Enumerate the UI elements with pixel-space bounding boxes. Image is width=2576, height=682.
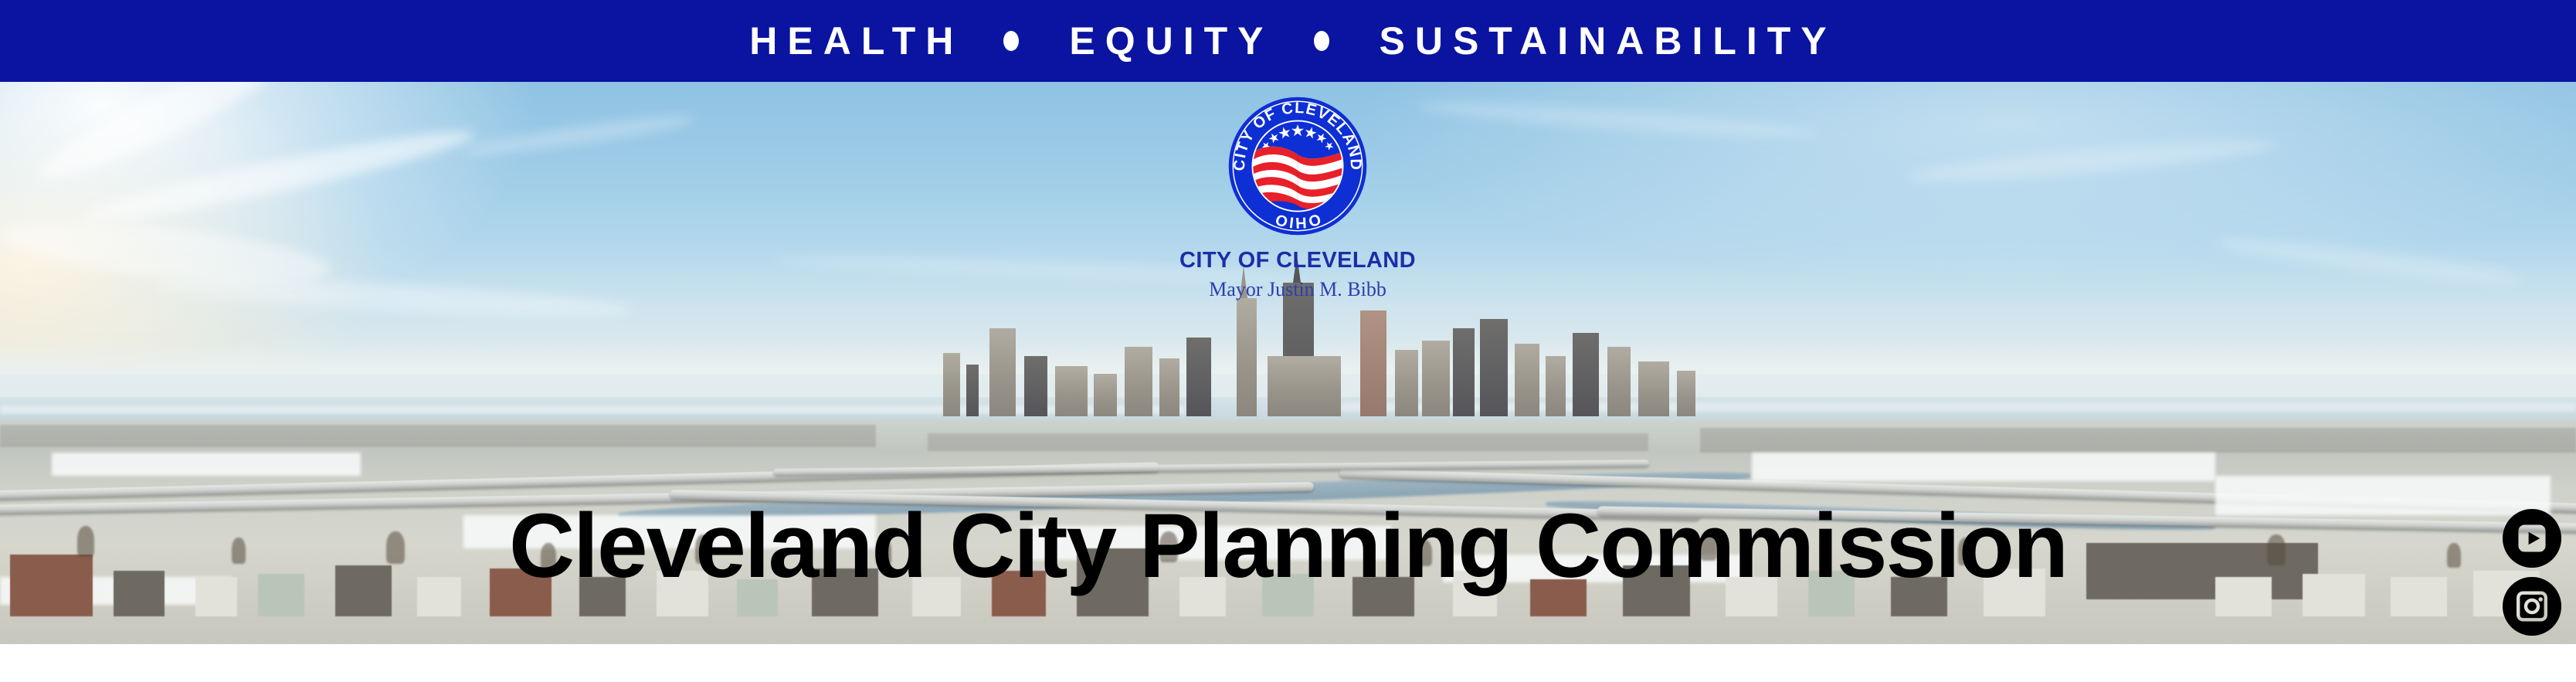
skyline-tower (1638, 361, 1669, 416)
skyline-tower (1546, 356, 1566, 417)
bottom-white-strip (0, 644, 2576, 682)
skyline-tower (1268, 356, 1341, 417)
skyline-tower (1395, 350, 1418, 416)
city-branding-block: CITY OF CLEVELAND OHIO (1143, 94, 1452, 300)
skyline-tower (1422, 341, 1450, 416)
city-of-cleveland-seal: CITY OF CLEVELAND OHIO (1226, 94, 1369, 238)
skyline-tower (1159, 358, 1179, 416)
social-links-rail (2502, 508, 2562, 644)
page-root: HEALTH EQUITY SUSTAINABILITY (0, 0, 2576, 682)
skyline-tower (1125, 347, 1152, 416)
snow-field (1752, 453, 2215, 480)
skyline-tower (1515, 344, 1539, 416)
skyline-tower (1677, 371, 1695, 416)
midground-buildings (1700, 428, 2576, 453)
youtube-icon[interactable] (2502, 508, 2562, 568)
skyline-tower (1453, 328, 1475, 416)
skyline-tower (966, 365, 979, 416)
skyline-tower (1480, 319, 1508, 416)
slogan-word-equity: EQUITY (1059, 22, 1273, 60)
skyline-tower (1573, 333, 1599, 416)
slogan-separator-dot-1 (1003, 31, 1019, 51)
midground-buildings (928, 433, 1649, 451)
midground-buildings (0, 425, 876, 447)
mayor-name-text: Mayor Justin M. Bibb (1143, 279, 1452, 300)
skyline-tower (943, 353, 960, 417)
skyline-tower (1024, 356, 1047, 417)
slogan-separator-dot-2 (1314, 31, 1329, 51)
200-public-square (1360, 310, 1386, 417)
slogan-word-sustainability: SUSTAINABILITY (1369, 22, 1837, 60)
page-title: Cleveland City Planning Commission (0, 500, 2576, 592)
skyline-tower (1607, 347, 1631, 416)
skyline-tower (1055, 366, 1088, 416)
city-name-wordmark: CITY OF CLEVELAND (1143, 249, 1452, 272)
hero-banner: CITY OF CLEVELAND OHIO (0, 82, 2576, 644)
skyline-tower (1186, 338, 1211, 416)
terminal-tower (1237, 298, 1257, 416)
skyline-tower (989, 328, 1016, 416)
skyline-tower (1094, 374, 1117, 416)
instagram-icon[interactable] (2502, 576, 2562, 636)
slogan-bar: HEALTH EQUITY SUSTAINABILITY (0, 0, 2576, 82)
slogan-word-health: HEALTH (739, 22, 963, 60)
snow-field (52, 453, 361, 475)
slogan-inner: HEALTH EQUITY SUSTAINABILITY (739, 22, 1836, 60)
